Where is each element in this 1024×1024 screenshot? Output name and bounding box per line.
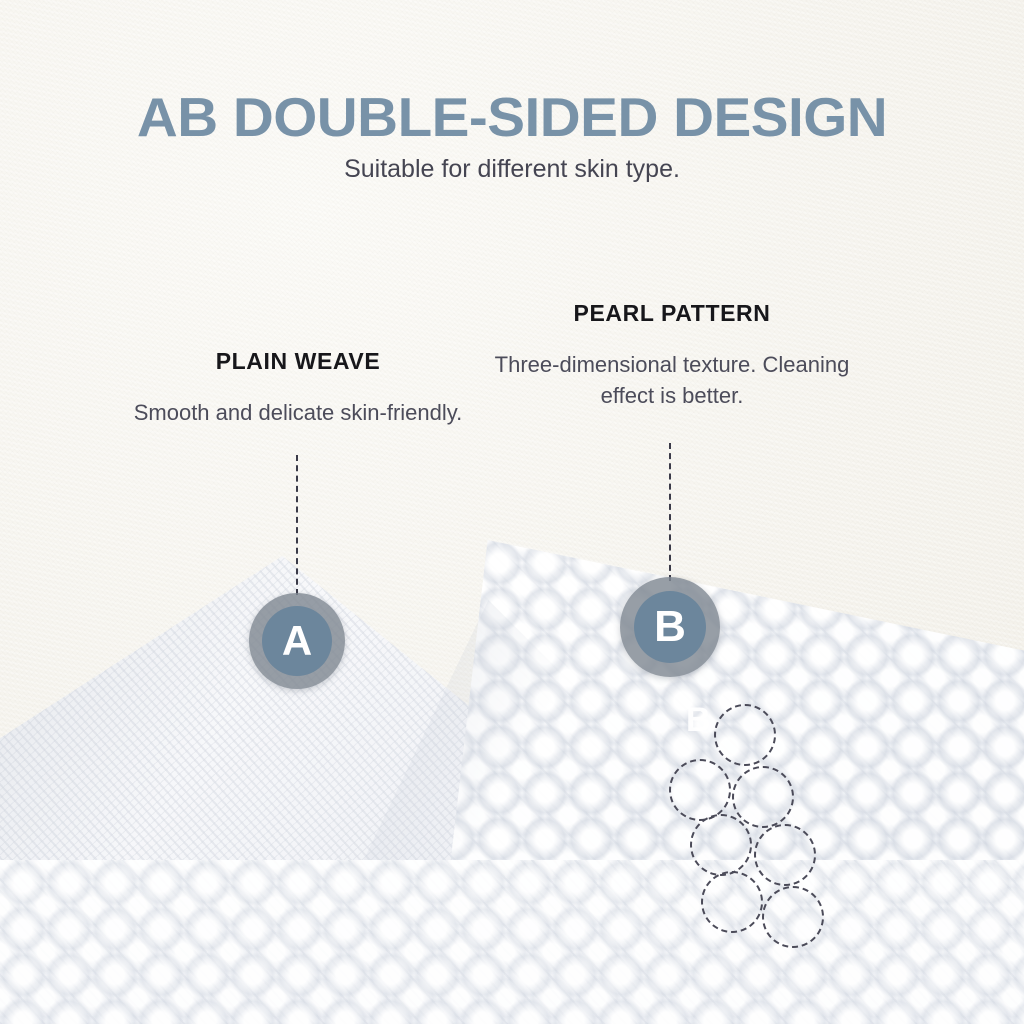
leader-line-b bbox=[669, 443, 671, 581]
pearl-highlight-circle-2 bbox=[669, 759, 731, 821]
infographic-canvas: AB DOUBLE-SIDED DESIGN Suitable for diff… bbox=[0, 0, 1024, 1024]
leader-line-a bbox=[296, 455, 298, 595]
callout-a-description: Smooth and delicate skin-friendly. bbox=[118, 397, 478, 428]
callout-b-description: Three-dimensional texture. Cleaning effe… bbox=[492, 349, 852, 411]
page-subtitle: Suitable for different skin type. bbox=[0, 153, 1024, 185]
pearl-highlight-circle-1 bbox=[714, 704, 776, 766]
pearl-highlight-circle-3 bbox=[732, 766, 794, 828]
page-title: AB DOUBLE-SIDED DESIGN bbox=[0, 86, 1024, 148]
pearl-highlight-circle-4 bbox=[690, 814, 752, 876]
pearl-highlight-circle-6 bbox=[701, 871, 763, 933]
marker-badge-b: B bbox=[620, 577, 720, 677]
callout-b-title: PEARL PATTERN bbox=[492, 300, 852, 327]
pearl-watermark-label: B bbox=[686, 703, 711, 737]
fabric-foreground-field bbox=[0, 860, 1024, 1024]
callout-pearl-pattern: PEARL PATTERN Three-dimensional texture.… bbox=[492, 300, 852, 433]
callout-a-title: PLAIN WEAVE bbox=[118, 348, 478, 375]
marker-badge-a: A bbox=[249, 593, 345, 689]
pearl-highlight-circle-7 bbox=[762, 886, 824, 948]
marker-badge-b-label: B bbox=[634, 591, 706, 663]
marker-badge-a-label: A bbox=[262, 606, 332, 676]
pearl-highlight-circle-5 bbox=[754, 824, 816, 886]
callout-plain-weave: PLAIN WEAVE Smooth and delicate skin-fri… bbox=[118, 348, 478, 450]
